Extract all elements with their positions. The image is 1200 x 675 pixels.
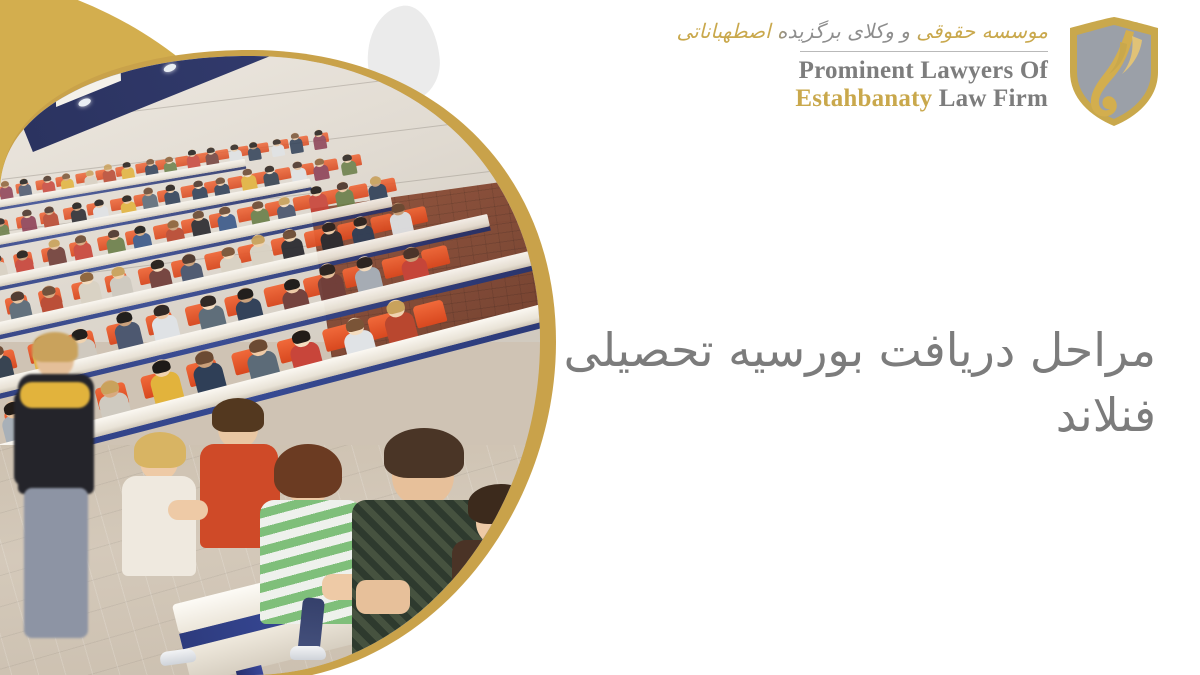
brand-english-line2: Estahbanaty Law Firm xyxy=(795,85,1048,114)
brand-divider xyxy=(800,51,1048,52)
page-title: مراحل دریافت بورسیه تحصیلی فنلاند xyxy=(556,318,1156,449)
brand-suffix-law-firm: Law Firm xyxy=(939,85,1048,112)
brand-text-block: موسسه حقوقی و وکلای برگزیده اصطهباناتی P… xyxy=(676,16,1048,113)
banner-canvas: موسسه حقوقی و وکلای برگزیده اصطهباناتی P… xyxy=(0,0,1200,675)
brand-logo[interactable]: موسسه حقوقی و وکلای برگزیده اصطهباناتی P… xyxy=(676,16,1166,128)
brand-english-line1: Prominent Lawyers Of xyxy=(799,57,1048,85)
brand-name-estahbanaty: Estahbanaty xyxy=(795,85,932,112)
brand-persian-name: موسسه حقوقی و وکلای برگزیده اصطهباناتی xyxy=(676,18,1048,45)
shield-feather-logo-icon xyxy=(1062,16,1166,128)
